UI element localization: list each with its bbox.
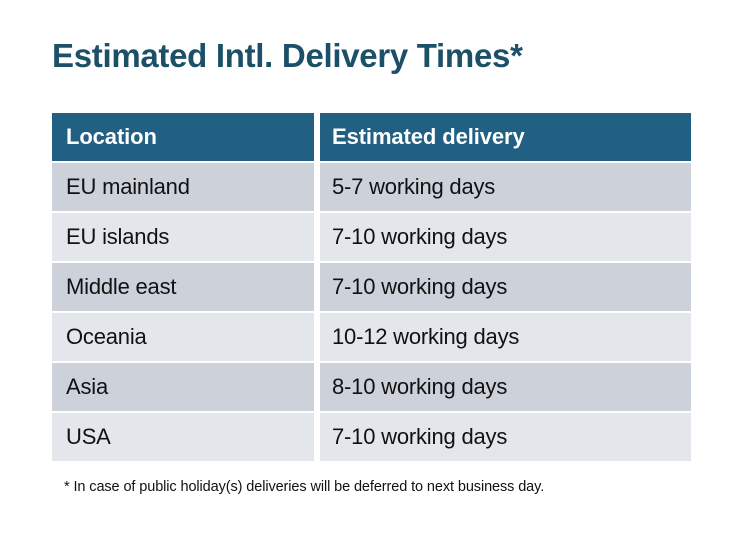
cell-delivery-text: 8-10 working days (332, 374, 507, 400)
cell-location-text: USA (66, 424, 111, 450)
cell-delivery-text: 5-7 working days (332, 174, 495, 200)
cell-location-text: Middle east (66, 274, 176, 300)
table-row: EU mainland 5-7 working days (52, 163, 691, 211)
cell-location-text: Oceania (66, 324, 147, 350)
cell-location: EU islands (52, 213, 314, 261)
cell-delivery: 7-10 working days (320, 263, 691, 311)
cell-delivery-text: 7-10 working days (332, 424, 507, 450)
footnote-text: * In case of public holiday(s) deliverie… (64, 479, 544, 495)
delivery-times-page: Estimated Intl. Delivery Times* Location… (0, 0, 745, 536)
page-title: Estimated Intl. Delivery Times* (52, 36, 523, 76)
table-row: Middle east 7-10 working days (52, 263, 691, 311)
table-row: USA 7-10 working days (52, 413, 691, 461)
cell-location: Oceania (52, 313, 314, 361)
estimated-delivery-times-table: Location Estimated delivery EU mainland … (52, 113, 691, 463)
column-header-location: Location (52, 113, 314, 161)
cell-delivery: 8-10 working days (320, 363, 691, 411)
column-header-location-label: Location (66, 124, 157, 150)
cell-location: EU mainland (52, 163, 314, 211)
table-row: Oceania 10-12 working days (52, 313, 691, 361)
table-row: EU islands 7-10 working days (52, 213, 691, 261)
column-header-delivery: Estimated delivery (320, 113, 691, 161)
cell-delivery: 5-7 working days (320, 163, 691, 211)
cell-location: Middle east (52, 263, 314, 311)
cell-delivery: 7-10 working days (320, 413, 691, 461)
cell-delivery: 10-12 working days (320, 313, 691, 361)
table-header-row: Location Estimated delivery (52, 113, 691, 161)
cell-location-text: EU islands (66, 224, 169, 250)
cell-location: Asia (52, 363, 314, 411)
column-header-delivery-label: Estimated delivery (332, 124, 525, 150)
cell-location: USA (52, 413, 314, 461)
cell-delivery-text: 7-10 working days (332, 224, 507, 250)
cell-delivery-text: 7-10 working days (332, 274, 507, 300)
cell-location-text: EU mainland (66, 174, 190, 200)
cell-delivery-text: 10-12 working days (332, 324, 519, 350)
table-row: Asia 8-10 working days (52, 363, 691, 411)
cell-location-text: Asia (66, 374, 108, 400)
cell-delivery: 7-10 working days (320, 213, 691, 261)
